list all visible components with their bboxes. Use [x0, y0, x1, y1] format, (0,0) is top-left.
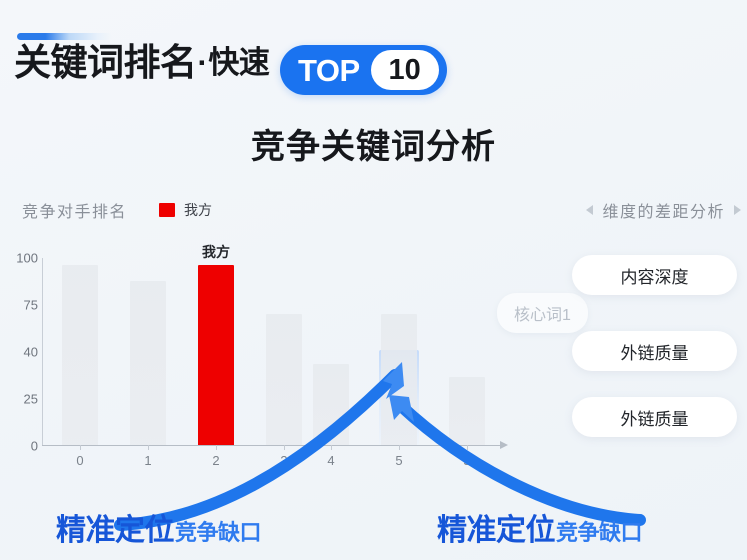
chart-legend: 竞争对手排名 我方 — [22, 198, 212, 222]
page-title-main: 关键词排名 — [14, 44, 197, 81]
x-tick-label: 3 — [280, 453, 287, 468]
y-tick-label: 75 — [24, 298, 38, 313]
dimension-tag-1[interactable]: 外链质量 — [572, 331, 737, 371]
caption-right-weak: 竞争缺口 — [556, 515, 642, 547]
y-tick-label: 40 — [24, 345, 38, 360]
legend-swatch-icon — [159, 203, 175, 217]
triangle-left-icon — [586, 205, 593, 215]
y-axis-labels: 100 75 40 25 0 — [0, 240, 38, 430]
caption-left-strong: 精准定位 — [56, 505, 174, 549]
x-tick-label: 2 — [212, 453, 219, 468]
legend-entry-label: 我方 — [184, 200, 212, 220]
bar-0[interactable] — [62, 265, 98, 445]
y-tick-label: 100 — [16, 251, 38, 266]
competitor-rank-chart: 100 75 40 25 0 我方 0 1 2 3 4 5 5 — [0, 240, 560, 470]
dimension-tag-2[interactable]: 外链质量 — [572, 397, 737, 437]
dimension-panel-header: 维度的差距分析 — [586, 198, 741, 222]
caption-right-strong: 精准定位 — [437, 505, 555, 549]
x-tick-label: 0 — [76, 453, 83, 468]
x-tick-label: 5 — [463, 453, 470, 468]
caption-left-weak: 竞争缺口 — [175, 515, 261, 547]
dimension-panel-title: 维度的差距分析 — [602, 198, 725, 222]
bar-3[interactable] — [266, 314, 302, 445]
caption-left: 精准定位 竞争缺口 — [56, 505, 261, 549]
bar-4[interactable] — [313, 364, 349, 445]
bar-2-mine[interactable] — [198, 265, 234, 445]
y-tick-label: 0 — [31, 439, 38, 454]
chart-legend-title: 竞争对手排名 — [22, 198, 127, 222]
top-badge-label: TOP — [298, 55, 360, 86]
bar-6[interactable] — [449, 377, 485, 445]
top-badge-count: 10 — [371, 50, 439, 90]
caption-right: 精准定位 竞争缺口 — [437, 505, 642, 549]
y-axis-line — [42, 258, 43, 446]
x-tick-label: 4 — [327, 453, 334, 468]
dimension-tag-0[interactable]: 内容深度 — [572, 255, 737, 295]
bar-2-label: 我方 — [202, 242, 230, 262]
top-rank-badge[interactable]: TOP 10 — [280, 45, 447, 95]
page-title-sub: 快速 — [208, 47, 269, 78]
bar-1[interactable] — [130, 281, 166, 445]
page-title: 关键词排名 · 快速 — [14, 44, 269, 81]
y-tick-label: 25 — [24, 392, 38, 407]
accent-bar — [17, 33, 112, 40]
bar-5[interactable] — [381, 314, 417, 445]
x-tick-label: 5 — [395, 453, 402, 468]
x-axis-line — [42, 445, 502, 446]
x-axis-arrow-icon — [500, 441, 508, 449]
page-subtitle: 竞争关键词分析 — [0, 119, 747, 168]
page-title-separator: · — [198, 47, 208, 78]
x-tick-label: 1 — [144, 453, 151, 468]
legend-entry-mine[interactable]: 我方 — [159, 200, 212, 220]
triangle-right-icon — [734, 205, 741, 215]
keyword-chip[interactable]: 核心词1 — [497, 293, 588, 333]
